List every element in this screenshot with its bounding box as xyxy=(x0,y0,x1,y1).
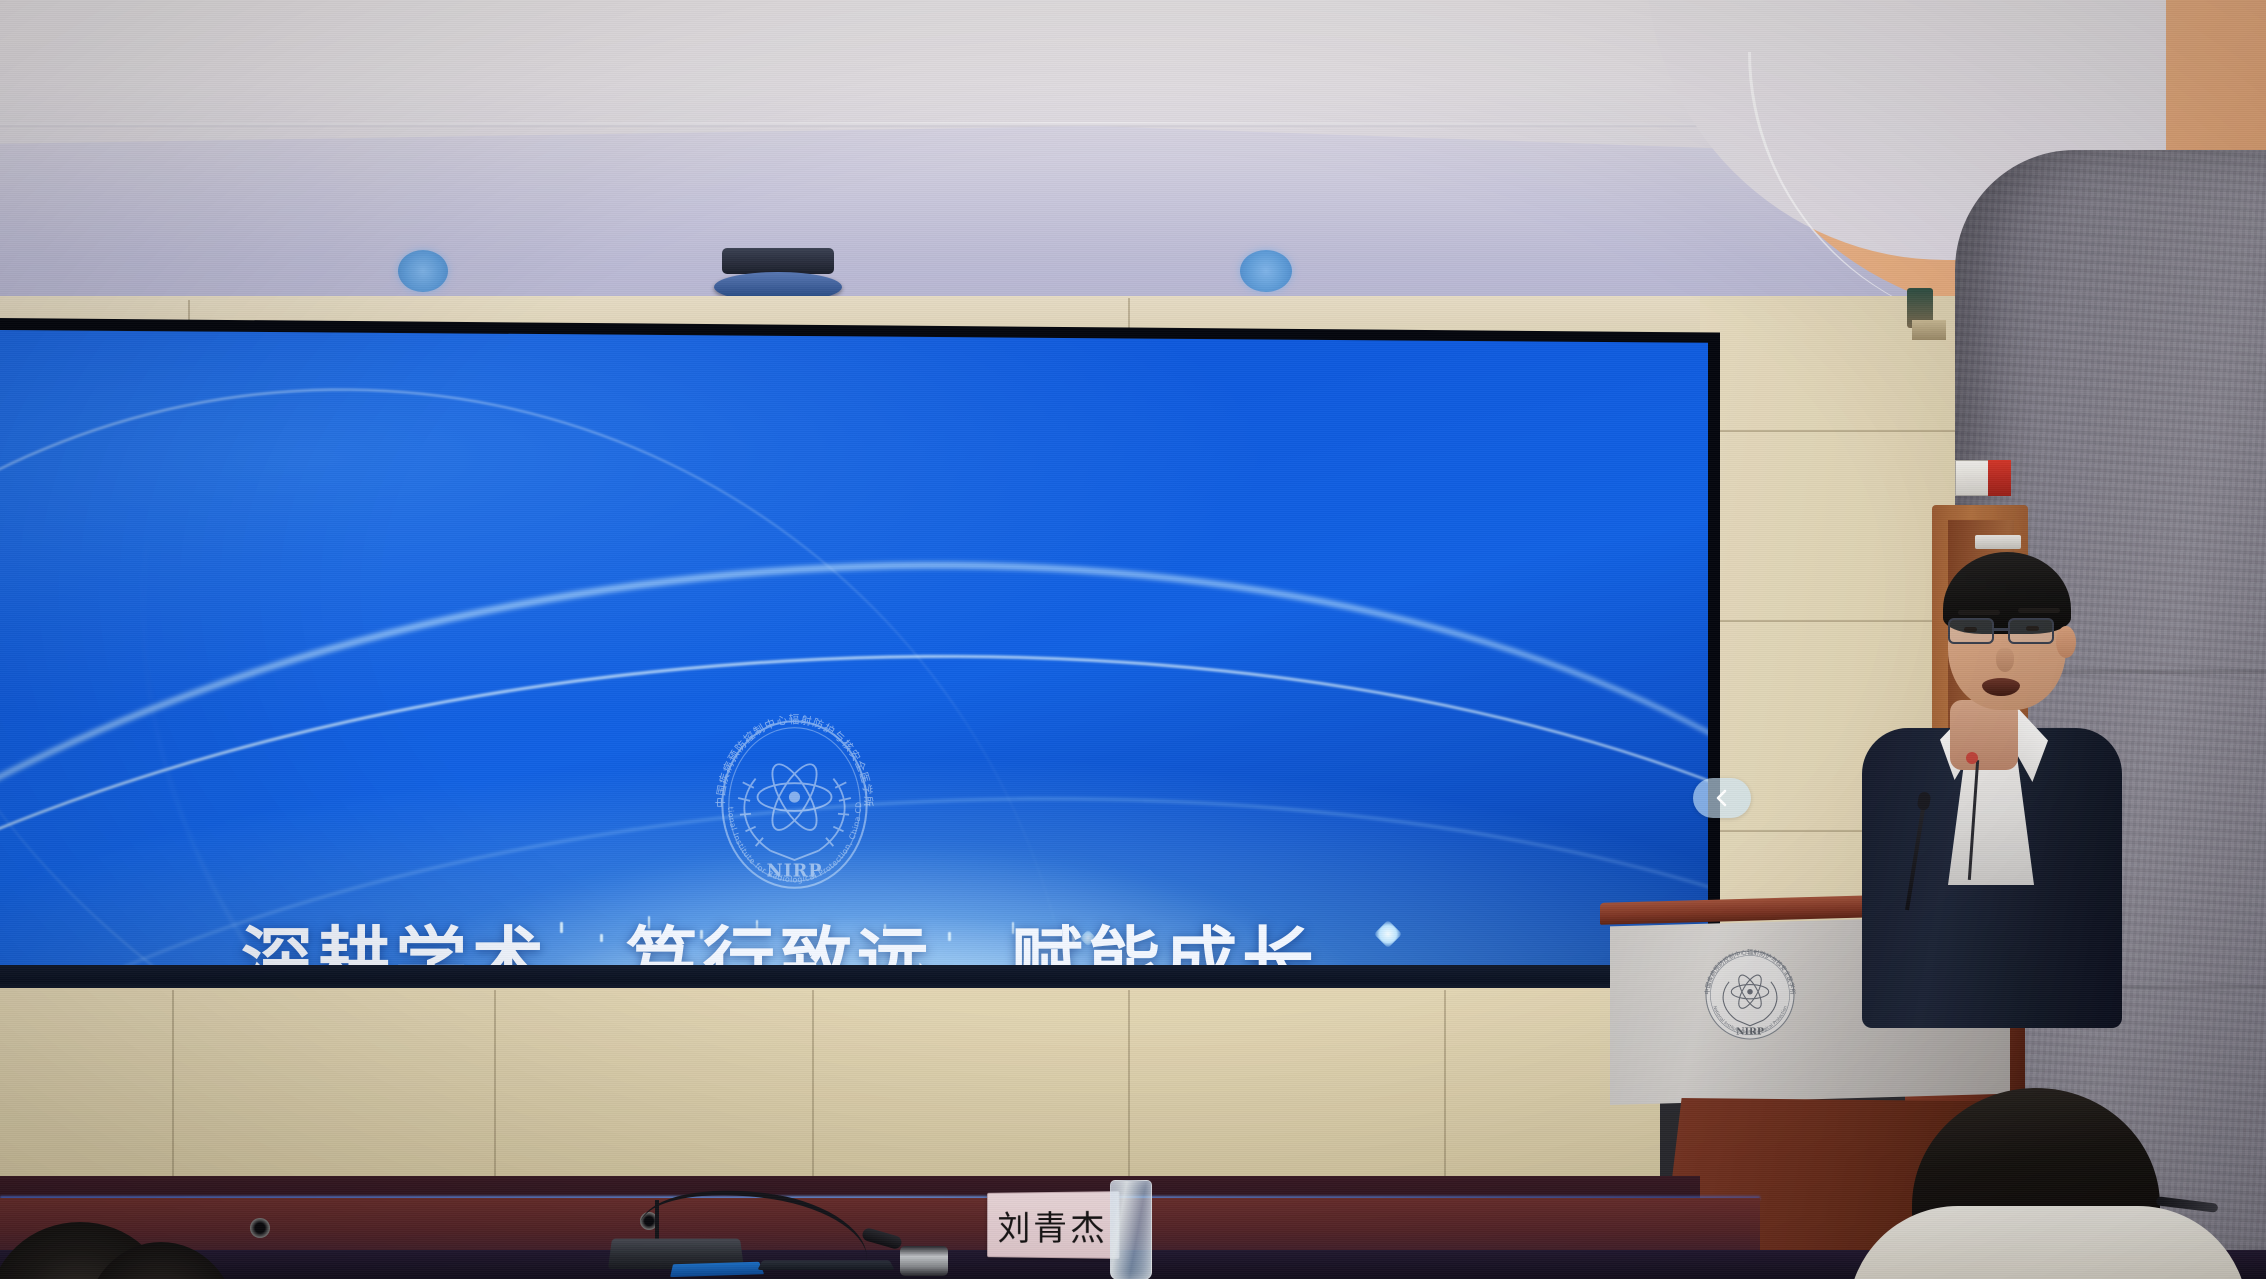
conference-hall-photo: 中国疾病预防控制中心辐射防护与核安全医学所 National Institute… xyxy=(0,0,2266,1279)
small-cup xyxy=(900,1246,948,1276)
nirp-logo: 中国疾病预防控制中心辐射防护与核安全医学所 National Institute… xyxy=(702,712,887,897)
svg-text:NIRP: NIRP xyxy=(767,862,823,882)
sensor-bracket xyxy=(1912,320,1946,340)
speaker-nose xyxy=(1996,648,2014,672)
slide-prev-button[interactable] xyxy=(1693,778,1751,818)
slide-title-line1: 深耕学术、笃行致远、赋能成长 xyxy=(0,902,1560,970)
speaker-eye-left xyxy=(1964,627,1977,632)
led-display-screen: 中国疾病预防控制中心辐射防护与核安全医学所 National Institute… xyxy=(0,330,1708,970)
ceiling-lower-plane xyxy=(0,126,1990,304)
svg-text:NIRP: NIRP xyxy=(1736,1027,1764,1038)
fire-alarm-pull-icon[interactable] xyxy=(1988,460,2011,496)
speaker-neck xyxy=(1950,700,2018,770)
door-closer-icon xyxy=(1975,535,2021,549)
speaker-eyebrow-left xyxy=(1958,610,2000,615)
smartphone[interactable] xyxy=(757,1260,894,1270)
nameplate-text: 刘青杰 xyxy=(998,1200,1108,1250)
speaker-eye-right xyxy=(2026,626,2039,631)
eyeglass-lens-right xyxy=(2008,618,2054,644)
eyeglass-bridge xyxy=(1994,628,2008,631)
ptz-camera-mount xyxy=(722,248,834,274)
downlight-icon xyxy=(1240,250,1292,292)
eyeglasses-icon xyxy=(1948,618,2072,646)
lapel-microphone-icon xyxy=(1966,752,1978,764)
chevron-left-icon xyxy=(1713,787,1731,809)
podium-nirp-emblem: 中国疾病预防控制中心辐射防护与核安全医学所 National Institute… xyxy=(1695,940,1805,1050)
table-speaker-grille xyxy=(250,1218,270,1238)
speaker-eyebrow-right xyxy=(2018,608,2060,613)
delegate-nameplate: 刘青杰 xyxy=(987,1191,1119,1259)
downlight-icon xyxy=(398,250,448,292)
water-glass xyxy=(1110,1180,1152,1279)
